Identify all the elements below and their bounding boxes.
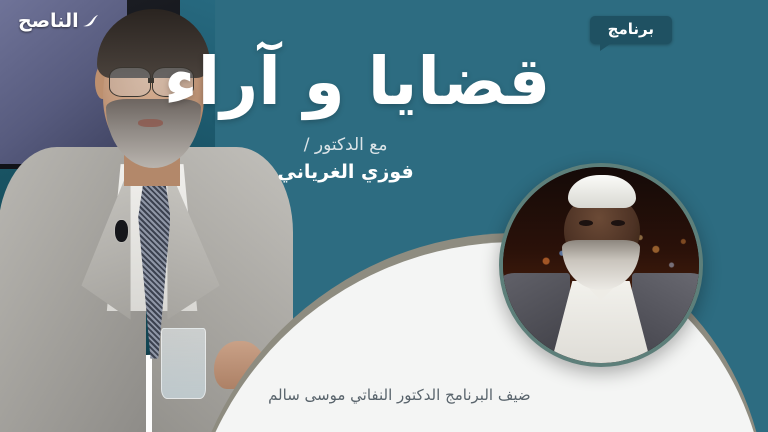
presenter-mouth [138,119,163,128]
lapel-microphone-icon [115,220,128,242]
presenter-eyeglass-bridge [148,78,154,83]
guest-eye-left [579,220,593,226]
program-badge[interactable]: برنامج [590,16,672,44]
guest-eye-right [611,220,625,226]
channel-logo[interactable]: الناصح [18,12,99,31]
title-card: الناصح برنامج قضايا و آراء مع الدكتور / … [0,0,768,432]
guest-caption: ضيف البرنامج الدكتور النفاتي موسى سالم [0,386,768,404]
guest-avatar [499,163,703,367]
swoosh-icon [82,13,99,30]
badge-tail-icon [600,42,613,51]
presenter-eyeglass-left [109,67,151,97]
channel-logo-text: الناصح [18,12,79,31]
program-badge-label: برنامج [590,16,672,44]
presenter-hair [97,9,211,78]
presenter-eyeglass-right [152,67,194,97]
